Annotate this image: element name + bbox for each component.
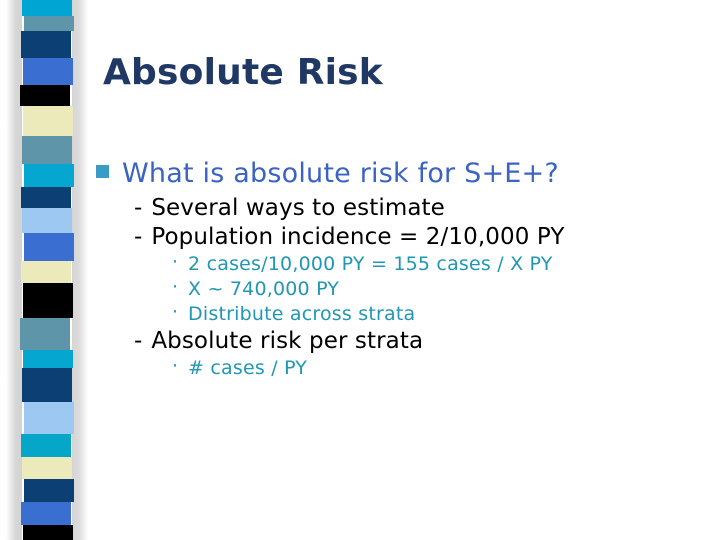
bullet-text: X ~ 740,000 PY (188, 278, 339, 300)
dot-bullet-icon: · (172, 357, 178, 376)
stripe-band (22, 368, 72, 402)
square-bullet-icon (96, 165, 109, 178)
bullet-text: Several ways to estimate (151, 195, 445, 221)
bullet-text: Distribute across strata (188, 303, 415, 325)
stripe-band (22, 136, 72, 164)
bullet-text: # cases / PY (188, 357, 307, 379)
stripe-band (21, 261, 71, 283)
bullet-item-level3: ·Distribute across strata (172, 303, 706, 325)
bullet-item-level2: -Absolute risk per strata (134, 328, 706, 354)
stripe-band (23, 106, 73, 136)
stripe-band (20, 318, 70, 350)
bullet-item-level3: ·X ~ 740,000 PY (172, 278, 706, 300)
bullet-item-level3: ·# cases / PY (172, 357, 706, 379)
bullet-text: What is absolute risk for S+E+? (122, 158, 559, 189)
stripe-band (22, 457, 72, 479)
stripe-band (24, 16, 74, 31)
stripe-band (21, 187, 71, 208)
bullet-text: Population incidence = 2/10,000 PY (151, 224, 564, 250)
bullet-item-level1: What is absolute risk for S+E+? (96, 158, 706, 189)
stripe-band (22, 0, 72, 16)
stripe-band (23, 525, 73, 540)
stripe-band (20, 85, 70, 106)
stripe-band (21, 434, 71, 457)
stripe-shadow-left (6, 0, 22, 540)
stripe-band (21, 31, 71, 58)
dot-bullet-icon: · (172, 253, 178, 272)
stripe-band (21, 502, 71, 525)
stripe-shadow-right (72, 0, 88, 540)
dot-bullet-icon: · (172, 303, 178, 322)
bullet-text: Absolute risk per strata (151, 328, 423, 354)
stripe-band (23, 350, 73, 368)
bullet-list: What is absolute risk for S+E+?-Several … (96, 158, 706, 382)
slide-canvas: Absolute Risk What is absolute risk for … (0, 0, 720, 540)
bullet-item-level2: -Several ways to estimate (134, 195, 706, 221)
stripe-band (23, 58, 73, 85)
dash-bullet-icon: - (134, 328, 142, 354)
color-stripe (22, 0, 72, 540)
stripe-band (23, 283, 73, 318)
dash-bullet-icon: - (134, 195, 142, 221)
bullet-text: 2 cases/10,000 PY = 155 cases / X PY (188, 253, 553, 275)
stripe-band (22, 208, 72, 233)
stripe-band (24, 402, 74, 434)
stripe-band (24, 233, 74, 261)
bullet-item-level2: -Population incidence = 2/10,000 PY (134, 224, 706, 250)
dot-bullet-icon: · (172, 278, 178, 297)
decorative-stripe-region (0, 0, 96, 540)
dash-bullet-icon: - (134, 224, 142, 250)
stripe-band (24, 479, 74, 502)
stripe-band (24, 164, 74, 187)
page-title: Absolute Risk (103, 52, 383, 93)
bullet-item-level3: ·2 cases/10,000 PY = 155 cases / X PY (172, 253, 706, 275)
